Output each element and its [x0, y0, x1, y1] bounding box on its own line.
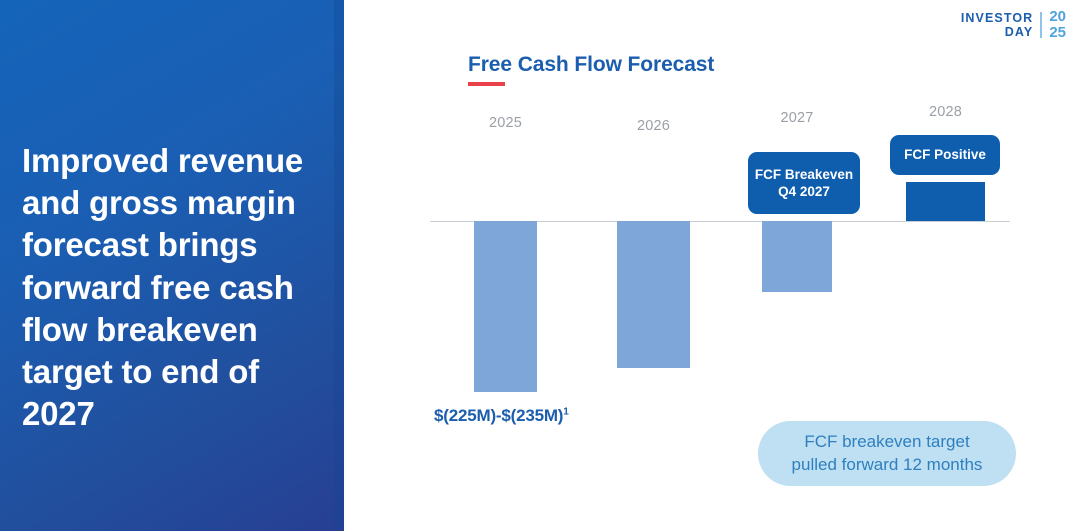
value-annotation-footnote: 1 — [563, 406, 568, 417]
title-underline-accent — [468, 82, 505, 86]
chart-title: Free Cash Flow Forecast — [468, 53, 714, 77]
logo-divider — [1040, 12, 1042, 38]
year-label-2025: 2025 — [474, 115, 537, 131]
bar-group-2025: 2025 — [474, 100, 537, 410]
logo-wordmark: INVESTOR DAY — [961, 11, 1033, 39]
badge-fcf-breakeven: FCF Breakeven Q4 2027 — [748, 152, 860, 214]
logo-line-investor: INVESTOR — [961, 11, 1033, 25]
headline-text: Improved revenue and gross margin foreca… — [22, 140, 340, 436]
headline-panel: Improved revenue and gross margin foreca… — [0, 0, 344, 531]
year-label-2027: 2027 — [762, 110, 832, 126]
bar-2025 — [474, 221, 537, 392]
year-label-2028: 2028 — [906, 104, 985, 120]
logo-year-bottom: 25 — [1049, 25, 1066, 41]
bar-2027 — [762, 221, 832, 292]
year-label-2026: 2026 — [617, 118, 690, 134]
value-annotation: $(225M)-$(235M)1 — [434, 406, 569, 426]
bar-group-2026: 2026 — [617, 100, 690, 410]
slide-root: Improved revenue and gross margin foreca… — [0, 0, 1080, 531]
bar-2026 — [617, 221, 690, 368]
value-annotation-text: $(225M)-$(235M) — [434, 406, 563, 425]
logo-year: 20 25 — [1049, 9, 1066, 40]
badge-fcf-positive: FCF Positive — [890, 135, 1000, 175]
bar-group-2027: 2027 — [762, 100, 832, 410]
callout-pill: FCF breakeven target pulled forward 12 m… — [758, 421, 1016, 486]
logo-year-top: 20 — [1049, 9, 1066, 25]
investor-day-logo: INVESTOR DAY 20 25 — [961, 10, 1066, 40]
logo-line-day: DAY — [1005, 25, 1034, 39]
bar-2028 — [906, 182, 985, 221]
